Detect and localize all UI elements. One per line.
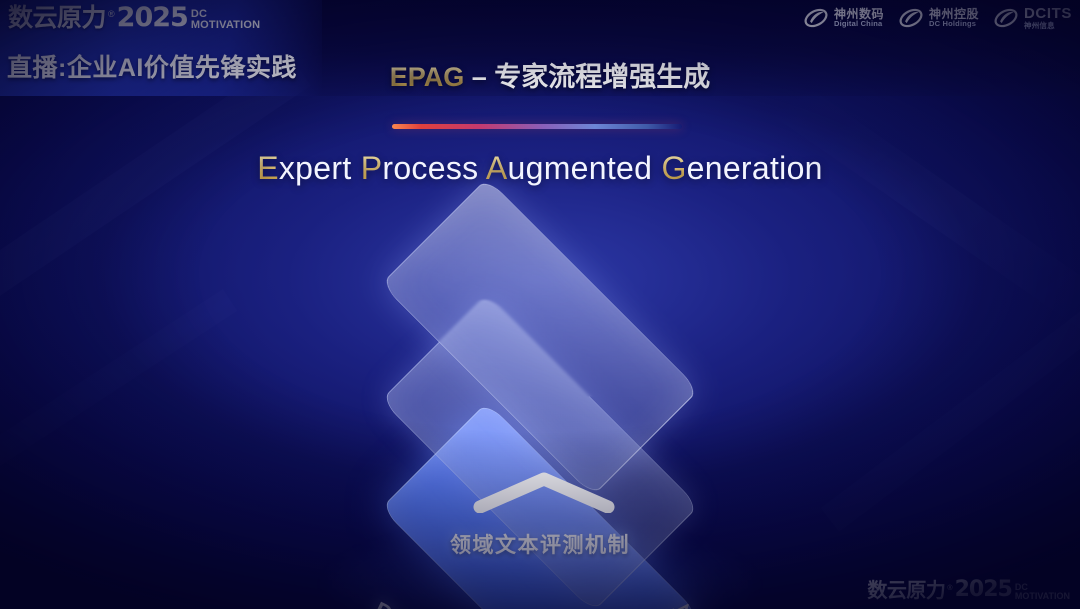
- live-banner-title: 直播:企业AI价值先锋实践: [7, 48, 297, 84]
- watermark-registered-mark: ®: [947, 585, 952, 592]
- layered-diagram: 领域文本评测机制 Dynamic MOE 长文本记忆 三类语义建模模块: [0, 195, 1080, 585]
- partner-name-en: 神州信息: [1024, 22, 1072, 30]
- event-logo: 数云原力 ® 2025 DC MOTIVATION: [8, 4, 260, 31]
- title-acronym: EPAG: [390, 62, 465, 92]
- watermark-year: 2025: [955, 579, 1012, 601]
- subtitle-cap-g: G: [661, 150, 686, 186]
- watermark-name-cn: 数云原力: [867, 581, 945, 601]
- subtitle-word-augmented: ugmented: [508, 150, 662, 186]
- title-separator: –: [464, 62, 494, 92]
- partner-logo-dc-holdings: 神州控股 DC Holdings: [898, 7, 979, 29]
- registered-mark: ®: [108, 10, 115, 19]
- subtitle-word-generation: eneration: [687, 150, 823, 186]
- subtitle: Expert Process Augmented Generation: [0, 150, 1080, 187]
- partner-name-en: Digital China: [834, 20, 884, 28]
- slide-canvas: 数云原力 ® 2025 DC MOTIVATION 直播:企业AI价值先锋实践 …: [0, 0, 1080, 609]
- subtitle-cap-a: A: [486, 150, 508, 186]
- page-title: EPAG – 专家流程增强生成: [340, 55, 760, 94]
- footer-logo: 数云原力 ® 2025 DC MOTIVATION: [867, 579, 1070, 601]
- subtitle-word-expert: xpert: [279, 150, 361, 186]
- swoosh-icon: [803, 7, 829, 29]
- swoosh-icon: [993, 7, 1019, 29]
- diagram-top-layer-label: 领域文本评测机制: [0, 529, 1080, 559]
- subtitle-cap-p: P: [361, 150, 383, 186]
- subtitle-cap-e: E: [257, 150, 279, 186]
- watermark-motivation: MOTIVATION: [1015, 592, 1070, 601]
- partner-logo-digital-china: 神州数码 Digital China: [803, 7, 884, 29]
- partner-logo-group: 神州数码 Digital China 神州控股 DC Holdings: [803, 6, 1072, 30]
- partner-logo-dcits: DCITS 神州信息: [993, 6, 1072, 30]
- brand-year: 2025: [117, 4, 188, 31]
- partner-name-en: DC Holdings: [929, 20, 979, 28]
- partner-name-cn: DCITS: [1024, 6, 1072, 22]
- title-chinese: 专家流程增强生成: [494, 62, 710, 92]
- brand-motivation: MOTIVATION: [191, 20, 260, 31]
- title-divider: [392, 124, 682, 129]
- subtitle-word-process: rocess: [382, 150, 485, 186]
- chevron-up-icon: [472, 471, 616, 513]
- swoosh-icon: [898, 7, 924, 29]
- brand-name-cn: 数云原力: [8, 6, 106, 31]
